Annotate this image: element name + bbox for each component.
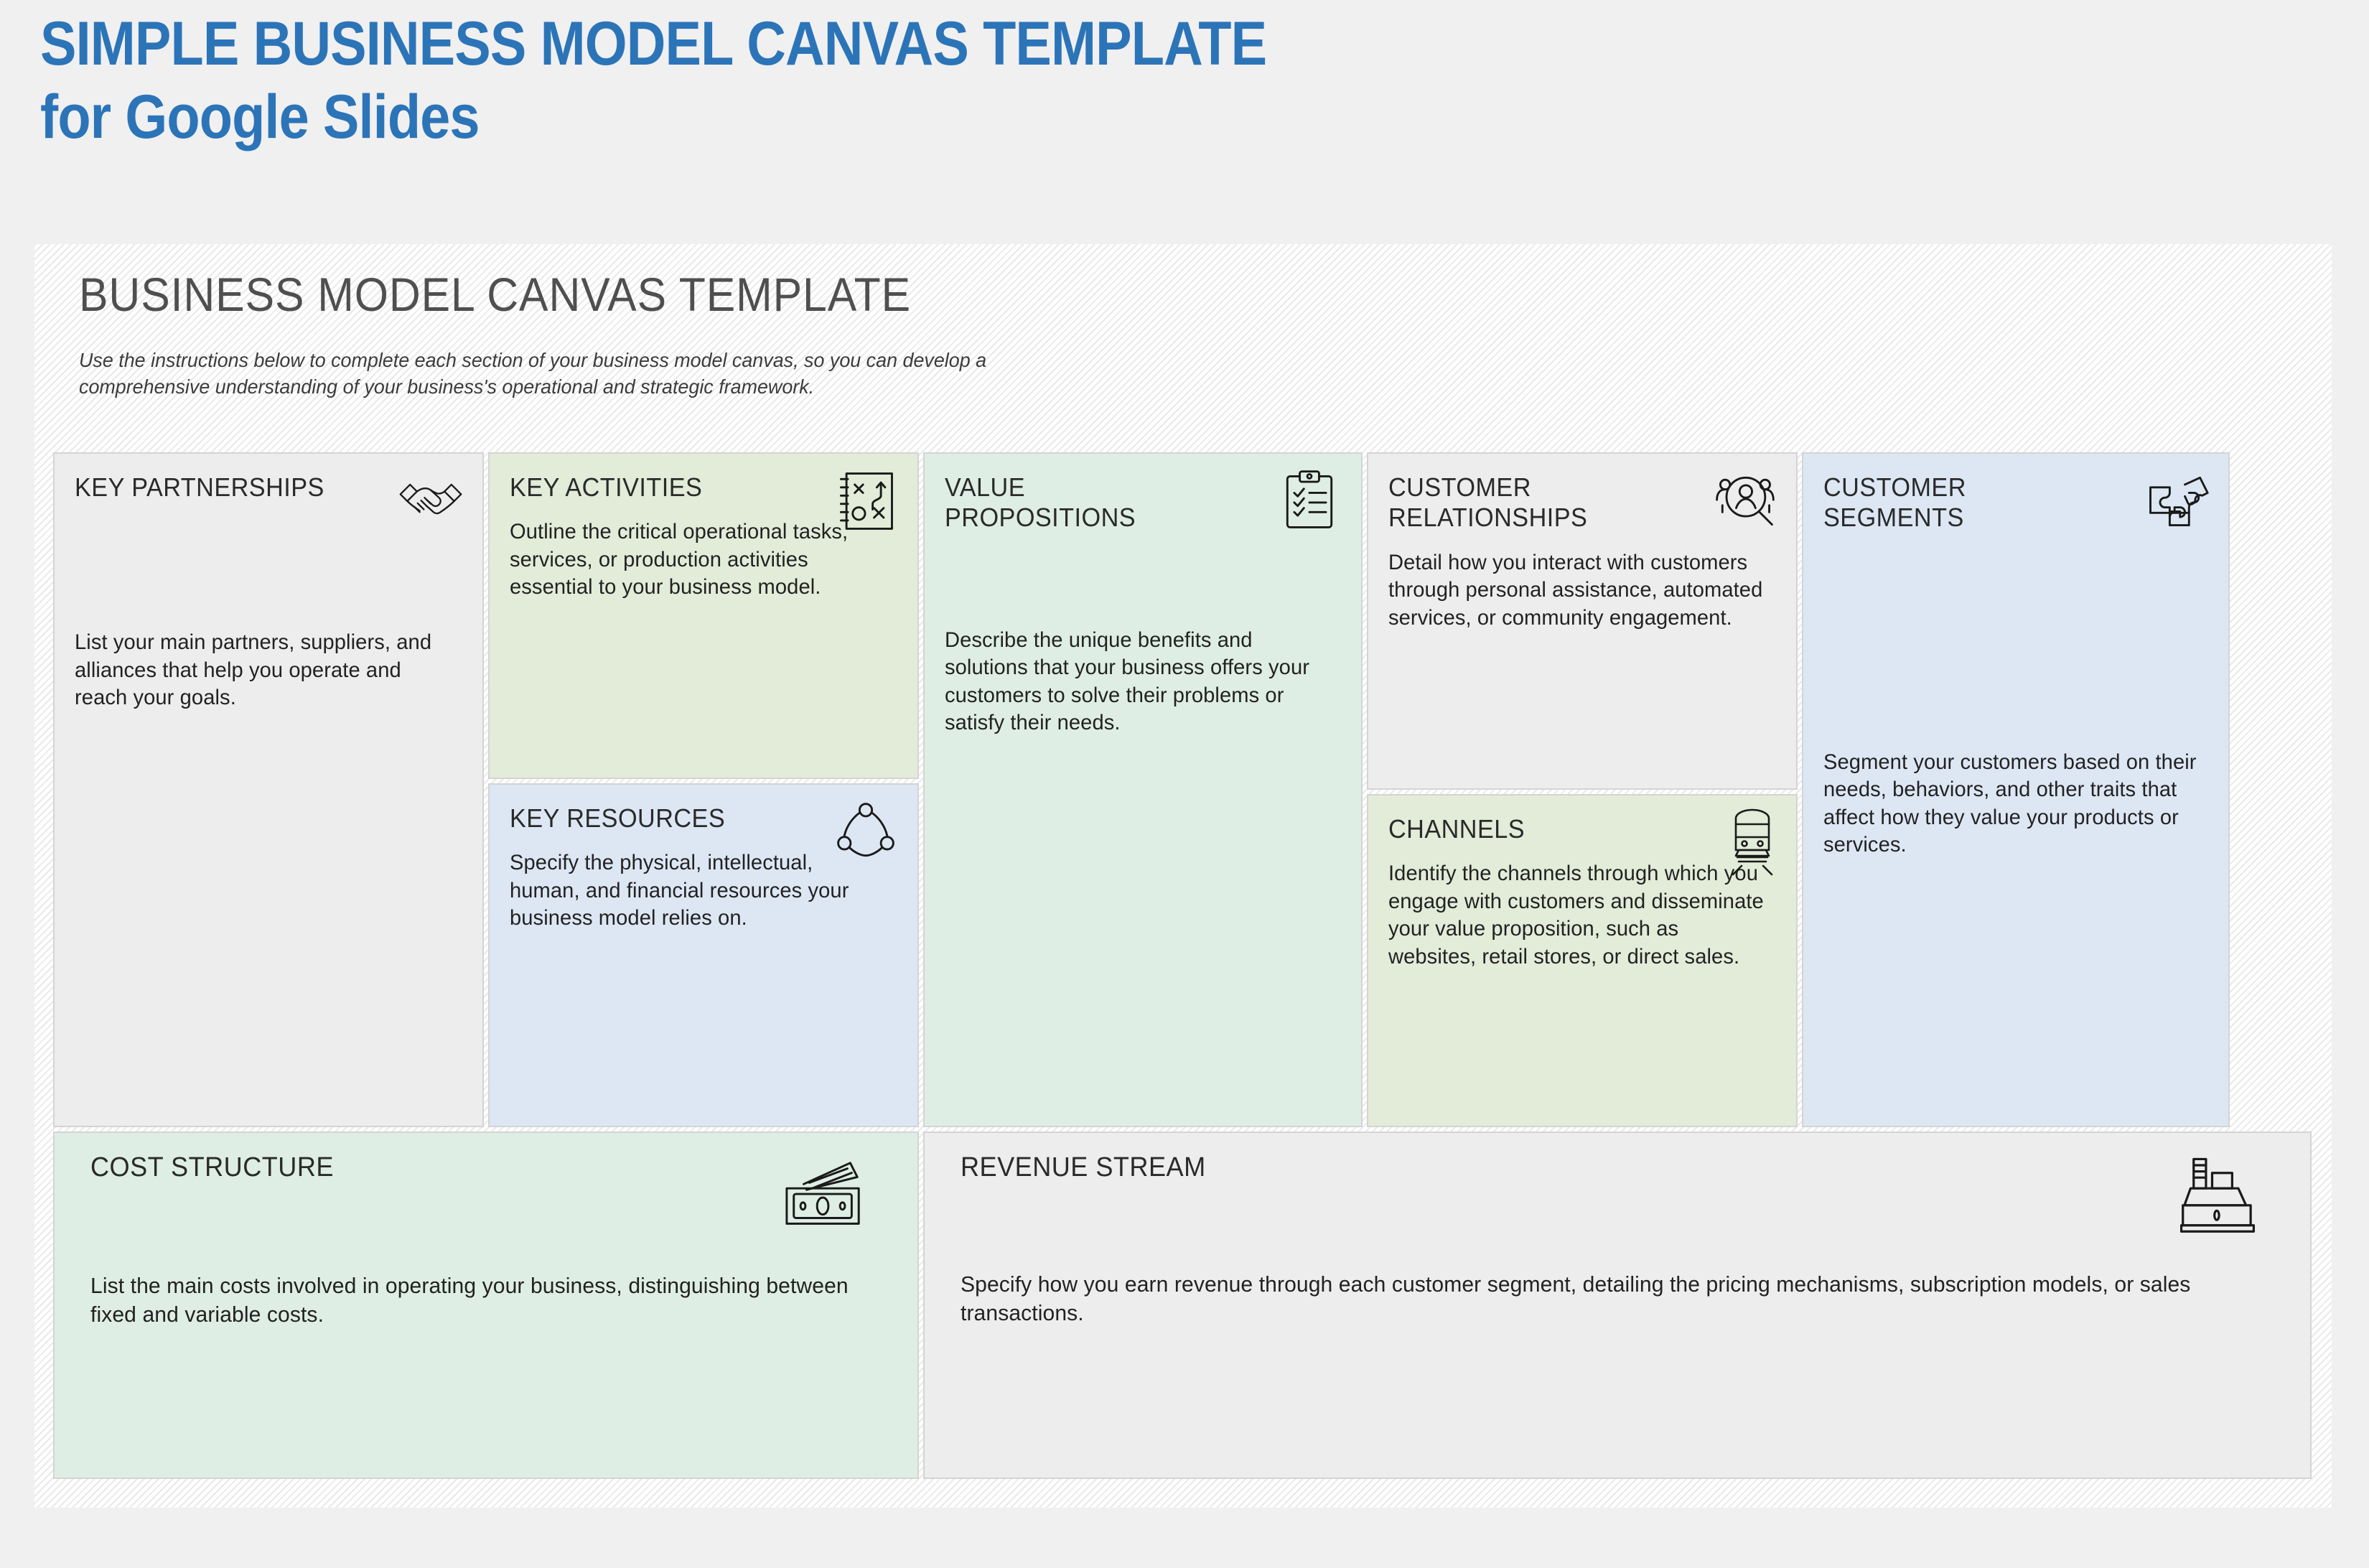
cell-body-customer-relationships: Detail how you interact with customers t… [1388,549,1765,632]
cell-title-key-activities: KEY ACTIVITIES [510,472,797,503]
canvas-header: BUSINESS MODEL CANVAS TEMPLATE Use the i… [79,267,1945,401]
cash-register-icon [2175,1154,2260,1239]
page-title: SIMPLE BUSINESS MODEL CANVAS TEMPLATE fo… [40,13,1746,149]
cell-title-channels: CHANNELS [1388,814,1676,844]
column-value-propositions: VALUE PROPOSITIONS Describe the uniqu [923,452,1363,1127]
cell-title-customer-segments: CUSTOMER SEGMENTS [1823,472,2108,533]
canvas-heading: BUSINESS MODEL CANVAS TEMPLATE [79,267,1796,322]
cell-body-value-propositions: Describe the unique benefits and solutio… [945,627,1329,737]
cell-channels[interactable]: CHANNELS [1367,794,1798,1127]
page-title-line-2: for Google Slides [40,86,1746,149]
cell-body-key-activities: Outline the critical operational tasks, … [510,518,886,601]
cell-customer-relationships[interactable]: CUSTOMER RELATIONSHIPS [1367,452,1798,790]
business-model-canvas: BUSINESS MODEL CANVAS TEMPLATE Use the i… [34,244,2332,1508]
cell-body-customer-segments: Segment your customers based on their ne… [1823,749,2197,859]
column-relationships-channels: CUSTOMER RELATIONSHIPS [1367,452,1798,1127]
handshake-icon [396,467,465,536]
cell-key-partnerships[interactable]: KEY PARTNERSHIPS List your main partn [53,452,484,1127]
cell-title-value-propositions: VALUE PROPOSITIONS [945,472,1238,533]
cell-body-cost-structure: List the main costs involved in operatin… [90,1271,873,1330]
page-title-line-1: SIMPLE BUSINESS MODEL CANVAS TEMPLATE [40,9,1266,78]
canvas-top-row: KEY PARTNERSHIPS List your main partn [53,452,2312,1127]
cell-title-customer-relationships: CUSTOMER RELATIONSHIPS [1388,472,1676,533]
canvas-bottom-row: COST STRUCTURE List the main costs invol… [53,1131,2312,1479]
cell-title-cost-structure: COST STRUCTURE [90,1152,688,1184]
cell-key-resources[interactable]: KEY RESOURCES Specify the physical, inte… [488,783,919,1127]
cell-customer-segments[interactable]: CUSTOMER SEGMENTS Segment your customers… [1802,452,2230,1127]
cell-cost-structure[interactable]: COST STRUCTURE List the main costs invol… [53,1131,919,1479]
banknotes-icon [782,1154,867,1239]
cell-title-revenue-stream: REVENUE STREAM [961,1152,1945,1184]
canvas-grid: KEY PARTNERSHIPS List your main partn [53,452,2312,1479]
cell-key-activities[interactable]: KEY ACTIVITIES Outline the critical o [488,452,919,779]
cell-body-key-resources: Specify the physical, intellectual, huma… [510,849,886,932]
cell-title-key-resources: KEY RESOURCES [510,803,797,834]
cell-value-propositions[interactable]: VALUE PROPOSITIONS Describe the uniqu [923,452,1363,1127]
canvas-instructions: Use the instructions below to complete e… [79,347,1871,401]
cell-revenue-stream[interactable]: REVENUE STREAM Specify how you earn reve… [923,1131,2312,1479]
cell-body-revenue-stream: Specify how you earn revenue through eac… [961,1270,2250,1328]
cell-body-channels: Identify the channels through which you … [1388,860,1765,971]
column-key-partnerships: KEY PARTNERSHIPS List your main partn [53,452,484,1127]
puzzle-pieces-icon [2142,467,2211,536]
cell-body-key-partnerships: List your main partners, suppliers, and … [75,629,451,711]
people-search-icon [1710,467,1779,536]
cell-title-key-partnerships: KEY PARTNERSHIPS [75,472,362,503]
clipboard-checklist-icon [1275,467,1344,536]
column-key-activities-resources: KEY ACTIVITIES Outline the critical o [488,452,919,1127]
column-customer-segments: CUSTOMER SEGMENTS Segment your customers… [1802,452,2230,1127]
